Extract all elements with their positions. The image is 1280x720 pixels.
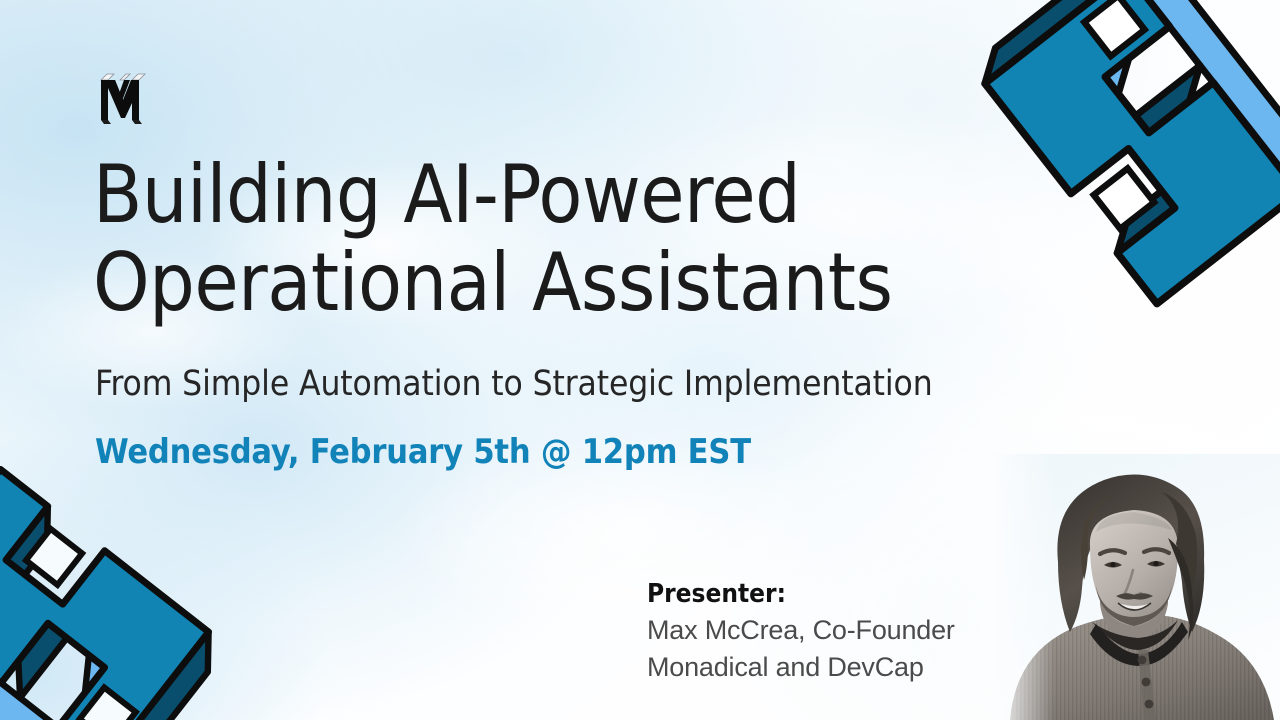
presenter-organization: Monadical and DevCap [647,649,992,686]
presenter-name: Max McCrea, Co-Founder [647,612,992,649]
page-subtitle: From Simple Automation to Strategic Impl… [95,362,933,406]
page-title: Building AI-Powered Operational Assistan… [93,151,923,327]
webinar-datetime: Wednesday, February 5th @ 12pm EST [95,430,751,474]
monadical-m-logo-icon [95,70,151,124]
webinar-title-slide: Building AI-Powered Operational Assistan… [0,0,1280,720]
presenter-label: Presenter: [647,576,992,612]
presenter-block: Presenter: Max McCrea, Co-Founder Monadi… [647,576,992,686]
presenter-portrait-photo [992,454,1280,720]
page-title-line-2: Operational Assistants [93,239,923,327]
page-title-line-1: Building AI-Powered [93,151,923,239]
